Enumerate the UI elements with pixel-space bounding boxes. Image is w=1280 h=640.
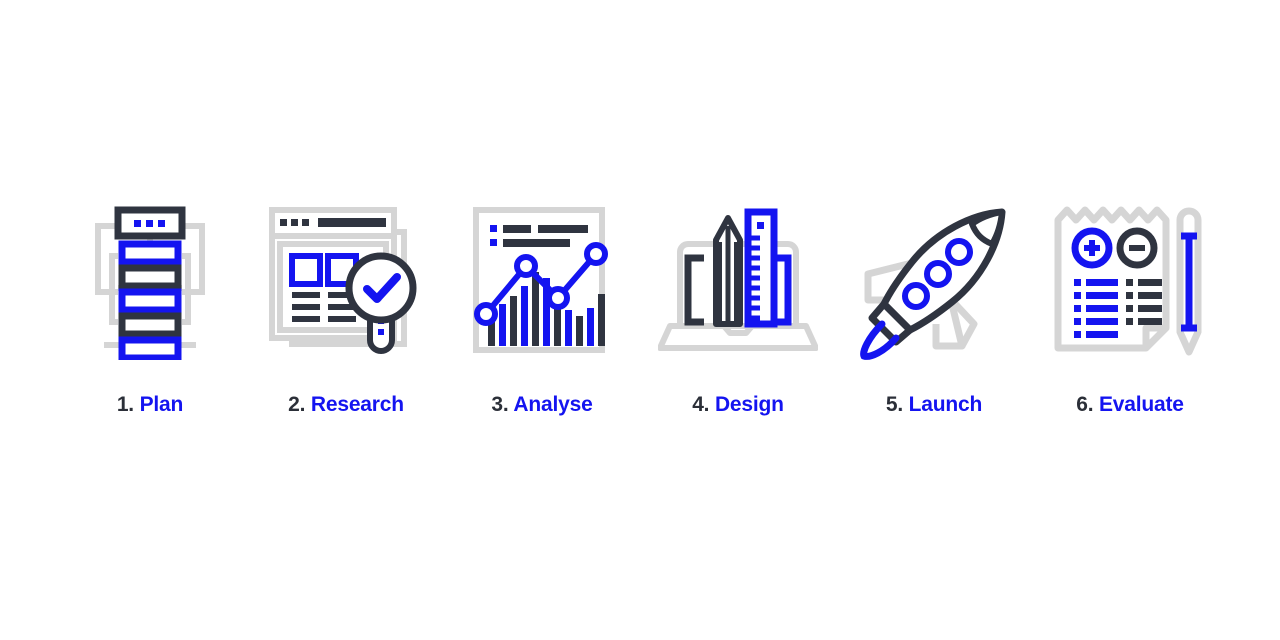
step-number: 4. xyxy=(692,393,709,416)
receipt-checklist-pencil-icon xyxy=(1040,190,1220,370)
process-step-evaluate[interactable]: 6. Evaluate xyxy=(1032,190,1228,415)
step-label-evaluate: 6. Evaluate xyxy=(1076,394,1184,415)
laptop-pencil-ruler-icon xyxy=(648,190,828,370)
bar-chart-line-graph-icon xyxy=(452,190,632,370)
process-step-plan[interactable]: 1. Plan xyxy=(52,190,248,415)
step-name: Research xyxy=(311,393,404,416)
step-number: 6. xyxy=(1076,393,1093,416)
step-label-design: 4. Design xyxy=(692,394,784,415)
process-step-design[interactable]: 4. Design xyxy=(640,190,836,415)
process-step-research[interactable]: 2. Research xyxy=(248,190,444,415)
process-steps-row: 1. Plan xyxy=(0,0,1280,640)
step-number: 1. xyxy=(117,393,134,416)
step-label-analyse: 3. Analyse xyxy=(491,394,592,415)
server-stack-flowchart-icon xyxy=(60,190,240,370)
rocket-icon xyxy=(844,190,1024,370)
step-name: Analyse xyxy=(513,393,592,416)
process-step-analyse[interactable]: 3. Analyse xyxy=(444,190,640,415)
step-number: 2. xyxy=(288,393,305,416)
browser-window-magnifier-check-icon xyxy=(256,190,436,370)
step-label-launch: 5. Launch xyxy=(886,394,982,415)
step-label-plan: 1. Plan xyxy=(117,394,183,415)
step-label-research: 2. Research xyxy=(288,394,404,415)
step-name: Design xyxy=(715,393,784,416)
step-name: Evaluate xyxy=(1099,393,1184,416)
step-number: 5. xyxy=(886,393,903,416)
process-step-launch[interactable]: 5. Launch xyxy=(836,190,1032,415)
step-number: 3. xyxy=(491,393,508,416)
step-name: Plan xyxy=(140,393,184,416)
step-name: Launch xyxy=(909,393,982,416)
